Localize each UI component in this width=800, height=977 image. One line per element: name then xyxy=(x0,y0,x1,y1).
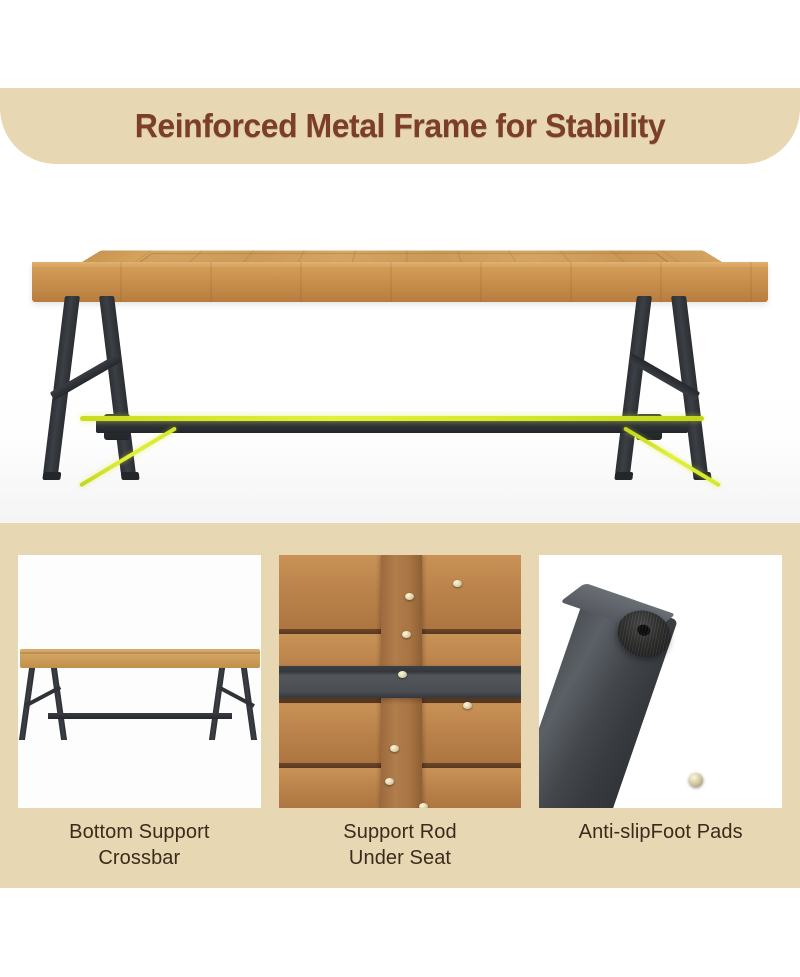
leg-post xyxy=(51,668,67,740)
metal-support-rod xyxy=(279,666,522,698)
panel-anti-slip-foot-pads xyxy=(539,555,782,808)
caption-line: Bottom Support xyxy=(18,819,261,845)
screw xyxy=(419,803,428,808)
bench-tabletop xyxy=(32,232,768,298)
screw xyxy=(405,593,414,600)
hero-product-image xyxy=(0,164,800,523)
caption-line: Under Seat xyxy=(279,845,522,871)
panel-support-rod-under-seat xyxy=(279,555,522,808)
product-feature-image: Reinforced Metal Frame for Stability xyxy=(0,0,800,977)
feature-detail-section: Bottom Support Crossbar Support Rod Unde… xyxy=(0,523,800,888)
leg-post xyxy=(209,668,225,740)
panel-captions: Bottom Support Crossbar Support Rod Unde… xyxy=(18,819,782,871)
leg-foot xyxy=(614,472,633,480)
sideview-crossbar xyxy=(48,713,232,719)
caption-anti-slip-foot-pads: Anti-slipFoot Pads xyxy=(539,819,782,871)
leg-foot xyxy=(121,472,140,480)
crossbar-highlight-line xyxy=(80,416,704,421)
caption-line: Support Rod xyxy=(279,819,522,845)
bolt xyxy=(689,773,703,787)
caption-support-rod-under-seat: Support Rod Under Seat xyxy=(279,819,522,871)
header-banner: Reinforced Metal Frame for Stability xyxy=(0,88,800,164)
feature-panels xyxy=(18,555,782,808)
screw xyxy=(385,778,394,785)
caption-line: Crossbar xyxy=(18,845,261,871)
screw xyxy=(463,702,472,709)
page-title: Reinforced Metal Frame for Stability xyxy=(12,88,788,164)
screw xyxy=(390,745,399,752)
bench-seat-sideview xyxy=(20,649,260,668)
leg-foot xyxy=(42,472,61,480)
caption-line: Anti-slipFoot Pads xyxy=(539,819,782,845)
bench-edge-highlight xyxy=(32,262,768,267)
panel-bottom-support-crossbar xyxy=(18,555,261,808)
caption-bottom-support-crossbar: Bottom Support Crossbar xyxy=(18,819,261,871)
bench-top-edge xyxy=(32,262,768,302)
